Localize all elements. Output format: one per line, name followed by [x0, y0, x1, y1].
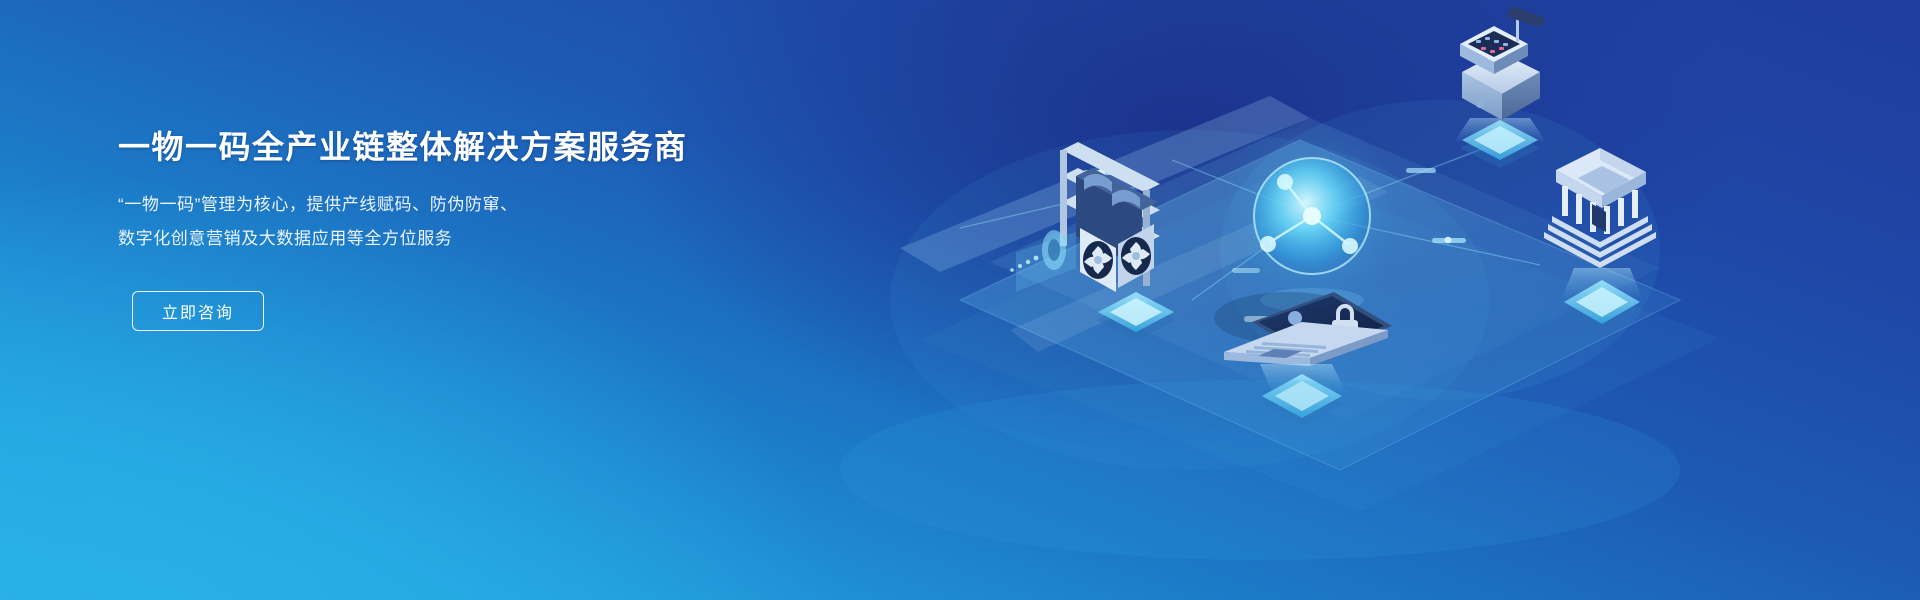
hero-subtitle-line-1: “一物一码”管理为核心，提供产线赋码、防伪防窜、	[118, 188, 758, 221]
hero-banner: 一物一码全产业链整体解决方案服务商 “一物一码”管理为核心，提供产线赋码、防伪防…	[0, 0, 1920, 600]
hero-copy-block: 一物一码全产业链整体解决方案服务商 “一物一码”管理为核心，提供产线赋码、防伪防…	[118, 128, 758, 331]
foreground-haze	[840, 380, 1680, 560]
hero-illustration	[840, 0, 1920, 600]
hero-subtitle: “一物一码”管理为核心，提供产线赋码、防伪防窜、 数字化创意营销及大数据应用等全…	[118, 188, 758, 254]
consult-now-button[interactable]: 立即咨询	[132, 291, 264, 331]
network-globe-icon	[1216, 120, 1408, 312]
hero-subtitle-line-2: 数字化创意营销及大数据应用等全方位服务	[118, 222, 758, 255]
page-title: 一物一码全产业链整体解决方案服务商	[118, 128, 758, 166]
